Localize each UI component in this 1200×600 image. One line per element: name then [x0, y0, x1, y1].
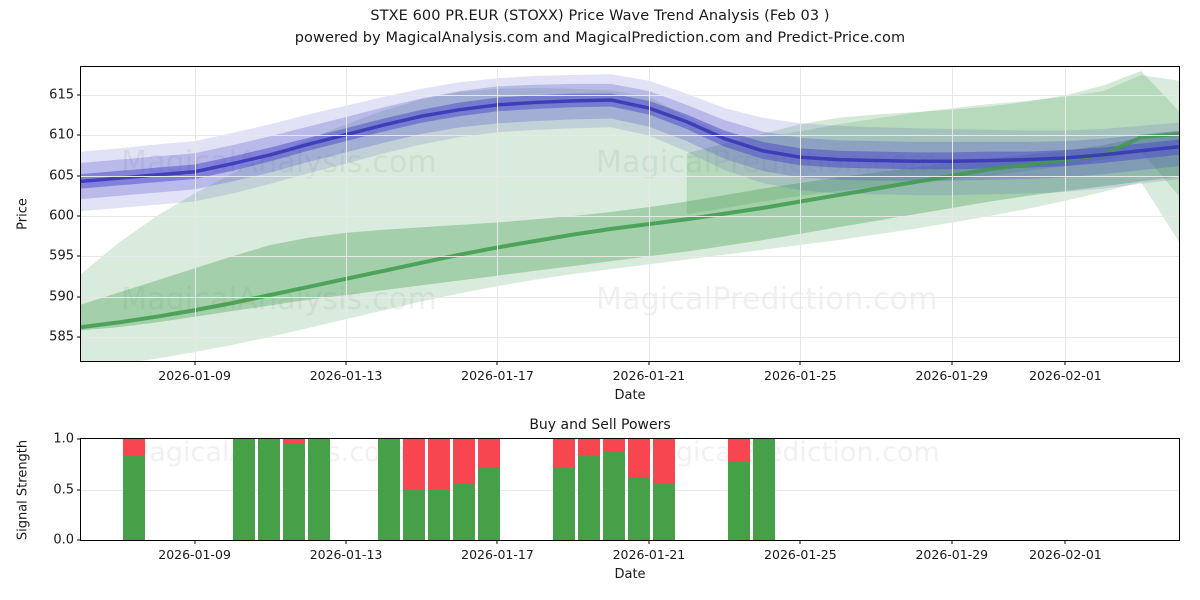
- price-x-tick-mark: [346, 361, 347, 365]
- buy-power-segment: [258, 439, 280, 540]
- price-y-tick-label: 615: [49, 88, 74, 103]
- buy-sell-plot-area: MagicalAnalysis.com MagicalPrediction.co…: [81, 439, 1179, 540]
- price-y-tick-mark: [77, 336, 81, 337]
- page-subtitle: powered by MagicalAnalysis.com and Magic…: [0, 30, 1200, 46]
- signal-y-tick-mark: [77, 540, 81, 541]
- signal-bar[interactable]: [453, 439, 475, 540]
- buy-sell-x-tick-mark: [346, 540, 347, 544]
- price-x-tick-mark: [951, 361, 952, 365]
- price-y-tick-mark: [77, 135, 81, 136]
- signal-bar[interactable]: [478, 439, 500, 540]
- figure-canvas: STXE 600 PR.EUR (STOXX) Price Wave Trend…: [0, 0, 1200, 600]
- buy-power-segment: [728, 461, 750, 540]
- price-x-tick-label: 2026-02-01: [1029, 368, 1102, 383]
- buy-sell-x-tick-label: 2026-01-25: [764, 547, 837, 562]
- price-x-tick-label: 2026-01-17: [461, 368, 534, 383]
- price-y-tick-mark: [77, 216, 81, 217]
- gridline-vertical: [952, 67, 953, 361]
- price-y-tick-label: 590: [49, 289, 74, 304]
- price-x-tick-mark: [1065, 361, 1066, 365]
- price-y-axis-label: Price: [16, 198, 31, 230]
- price-y-tick-mark: [77, 296, 81, 297]
- price-x-tick-mark: [497, 361, 498, 365]
- buy-power-segment: [233, 439, 255, 540]
- signal-bar[interactable]: [553, 439, 575, 540]
- gridline-horizontal: [81, 176, 1179, 177]
- price-chart-plot-area: MagicalAnalysis.com MagicalPrediction.co…: [81, 67, 1179, 361]
- buy-power-segment: [453, 484, 475, 540]
- gridline-horizontal: [81, 135, 1179, 136]
- buy-power-segment: [428, 490, 450, 541]
- buy-power-segment: [653, 484, 675, 540]
- buy-sell-x-tick-mark: [194, 540, 195, 544]
- signal-strength-y-axis-label: Signal Strength: [16, 439, 31, 539]
- signal-bar[interactable]: [378, 439, 400, 540]
- price-x-tick-mark: [194, 361, 195, 365]
- signal-bar[interactable]: [258, 439, 280, 540]
- buy-power-segment: [603, 451, 625, 540]
- sell-power-segment: [478, 439, 500, 468]
- buy-sell-x-tick-mark: [648, 540, 649, 544]
- signal-bar[interactable]: [653, 439, 675, 540]
- signal-bar[interactable]: [578, 439, 600, 540]
- price-x-tick-label: 2026-01-29: [915, 368, 988, 383]
- gridline-vertical: [1065, 67, 1066, 361]
- gridline-horizontal: [81, 337, 1179, 338]
- price-x-axis-label: Date: [614, 388, 645, 403]
- buy-power-segment: [123, 455, 145, 540]
- gridline-vertical: [195, 67, 196, 361]
- buy-sell-x-axis-label: Date: [614, 567, 645, 582]
- price-y-tick-mark: [77, 175, 81, 176]
- signal-bar[interactable]: [283, 439, 305, 540]
- gridline-vertical: [497, 67, 498, 361]
- gridline-vertical: [346, 67, 347, 361]
- sell-power-segment: [553, 439, 575, 468]
- sell-power-segment: [578, 439, 600, 455]
- buy-sell-x-tick-mark: [497, 540, 498, 544]
- sell-power-segment: [603, 439, 625, 451]
- price-x-tick-mark: [648, 361, 649, 365]
- price-y-tick-label: 605: [49, 168, 74, 183]
- gridline-horizontal: [81, 297, 1179, 298]
- gridline-horizontal: [81, 95, 1179, 96]
- price-x-tick-label: 2026-01-09: [158, 368, 231, 383]
- sell-power-segment: [403, 439, 425, 490]
- signal-y-tick-label: 0.5: [53, 482, 74, 497]
- sell-power-segment: [123, 439, 145, 455]
- buy-sell-x-tick-label: 2026-01-13: [310, 547, 383, 562]
- buy-sell-chart-axes: MagicalAnalysis.com MagicalPrediction.co…: [80, 438, 1180, 541]
- buy-sell-x-tick-label: 2026-02-01: [1029, 547, 1102, 562]
- buy-sell-x-tick-label: 2026-01-17: [461, 547, 534, 562]
- buy-power-segment: [378, 439, 400, 540]
- price-y-tick-mark: [77, 95, 81, 96]
- price-x-tick-label: 2026-01-13: [310, 368, 383, 383]
- buy-sell-x-tick-mark: [800, 540, 801, 544]
- signal-y-tick-label: 0.0: [53, 533, 74, 548]
- signal-bar[interactable]: [233, 439, 255, 540]
- gridline-vertical: [800, 67, 801, 361]
- sell-power-segment: [653, 439, 675, 484]
- price-y-tick-mark: [77, 256, 81, 257]
- signal-bar[interactable]: [428, 439, 450, 540]
- buy-sell-x-tick-mark: [1065, 540, 1066, 544]
- price-y-tick-label: 610: [49, 128, 74, 143]
- signal-bar[interactable]: [728, 439, 750, 540]
- buy-sell-x-tick-label: 2026-01-21: [613, 547, 686, 562]
- price-x-tick-label: 2026-01-25: [764, 368, 837, 383]
- signal-y-tick-mark: [77, 489, 81, 490]
- buy-power-segment: [753, 439, 775, 540]
- sell-power-segment: [628, 439, 650, 478]
- price-y-tick-label: 600: [49, 209, 74, 224]
- signal-bar[interactable]: [403, 439, 425, 540]
- gridline-horizontal: [81, 256, 1179, 257]
- price-x-tick-mark: [800, 361, 801, 365]
- sell-power-segment: [428, 439, 450, 490]
- buy-power-segment: [553, 468, 575, 540]
- sell-power-segment: [728, 439, 750, 461]
- signal-bar[interactable]: [753, 439, 775, 540]
- signal-bar[interactable]: [603, 439, 625, 540]
- buy-sell-x-tick-label: 2026-01-09: [158, 547, 231, 562]
- buy-power-segment: [578, 455, 600, 540]
- buy-sell-chart-title: Buy and Sell Powers: [0, 417, 1200, 433]
- gridline-horizontal: [81, 216, 1179, 217]
- gridline-vertical: [649, 67, 650, 361]
- price-chart-axes: MagicalAnalysis.com MagicalPrediction.co…: [80, 66, 1180, 362]
- price-x-tick-label: 2026-01-21: [613, 368, 686, 383]
- buy-power-segment: [283, 443, 305, 540]
- signal-y-tick-label: 1.0: [53, 432, 74, 447]
- buy-sell-x-tick-mark: [951, 540, 952, 544]
- sell-power-segment: [283, 439, 305, 443]
- buy-power-segment: [308, 439, 330, 540]
- signal-bar[interactable]: [123, 439, 145, 540]
- watermark-magicalprediction-3: MagicalPrediction.com: [636, 439, 940, 468]
- page-title: STXE 600 PR.EUR (STOXX) Price Wave Trend…: [0, 8, 1200, 24]
- signal-y-tick-mark: [77, 439, 81, 440]
- buy-sell-x-tick-label: 2026-01-29: [915, 547, 988, 562]
- buy-power-segment: [628, 478, 650, 540]
- price-y-tick-label: 585: [49, 329, 74, 344]
- price-y-tick-label: 595: [49, 249, 74, 264]
- buy-power-segment: [403, 490, 425, 541]
- signal-bar[interactable]: [628, 439, 650, 540]
- signal-bar[interactable]: [308, 439, 330, 540]
- price-wave-bands: [81, 67, 1179, 361]
- buy-power-segment: [478, 468, 500, 540]
- sell-power-segment: [453, 439, 475, 484]
